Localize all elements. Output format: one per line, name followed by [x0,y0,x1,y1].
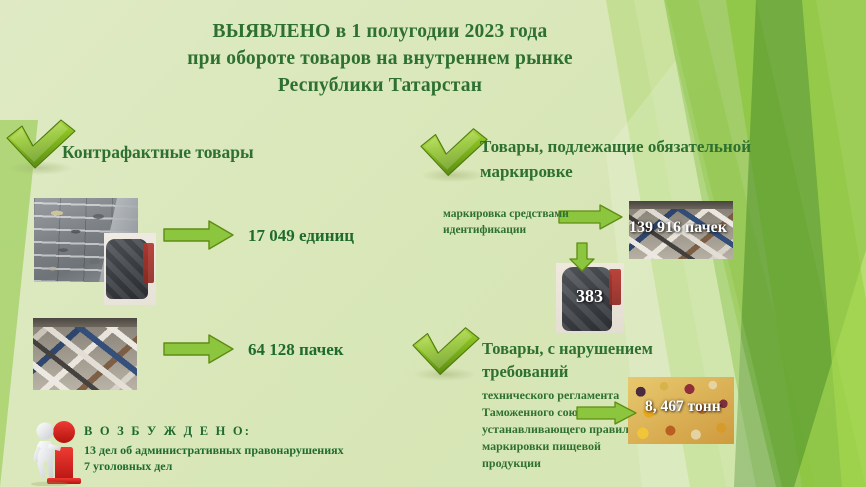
arrow-down-icon-marking [568,242,596,272]
cases-title: В О З Б У Ж Д Е Н О: [84,424,384,439]
arrow-right-icon-units [163,219,235,251]
info-figurine-icon [28,418,86,486]
counterfeit-jacket-photo [104,233,156,305]
arrow-right-icon-packs [163,333,235,365]
value-counterfeit-units: 17 049 единиц [248,226,354,246]
marking-sublabel: маркировка средствами идентификации [443,206,603,238]
cases-line-criminal: 7 уголовных дел [84,458,384,474]
value-counterfeit-packs: 64 128 пачек [248,340,344,360]
value-marking-items: 383 [576,286,603,307]
section-heading-counterfeit: Контрафактные товары [62,140,254,165]
title-line-1: ВЫЯВЛЕНО в 1 полугодии 2023 года [120,18,640,45]
section-heading-marking: Товары, подлежащие обязательной маркиров… [480,134,770,184]
value-violation-tons: 8, 467 тонн [645,398,721,416]
cigarette-packs-photo [33,318,137,390]
slide-title: ВЫЯВЛЕНО в 1 полугодии 2023 года при обо… [120,18,640,99]
cases-initiated-block: В О З Б У Ж Д Е Н О: 13 дел об администр… [84,424,384,474]
value-marking-packs: 139 916 пачек [629,219,727,237]
presentation-slide: ВЫЯВЛЕНО в 1 полугодии 2023 года при обо… [0,0,866,487]
cases-line-administrative: 13 дел об административных правонарушени… [84,442,384,458]
checkmark-icon-violation [410,325,482,383]
arrow-right-icon-violation [576,400,638,426]
title-line-2: при обороте товаров на внутреннем рынке [120,45,640,72]
title-line-3: Республики Татарстан [120,72,640,99]
